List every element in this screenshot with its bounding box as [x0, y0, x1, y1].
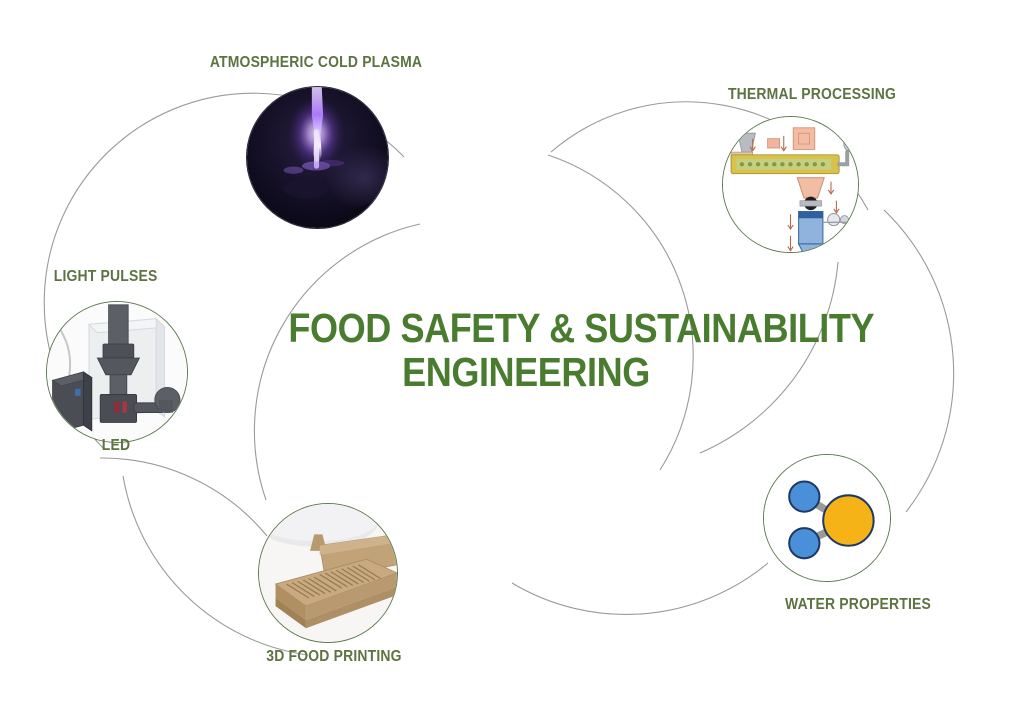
arc-thermal-outer-right	[884, 210, 954, 512]
node-3d-food-printing[interactable]	[258, 503, 398, 643]
node-atmospheric-cold-plasma[interactable]	[246, 86, 389, 229]
arc-water-to-printing	[512, 563, 768, 614]
led-lab-apparatus-icon	[47, 302, 187, 442]
label-led: LED	[102, 437, 130, 455]
printed-food-slab-icon	[259, 504, 397, 642]
label-light-pulses: LIGHT PULSES	[54, 268, 158, 286]
page-title: FOOD SAFETY & SUSTAINABILITY ENGINEERING	[256, 306, 796, 395]
title-line-1: FOOD SAFETY & SUSTAINABILITY	[288, 306, 763, 350]
node-light-pulses[interactable]	[46, 301, 188, 443]
label-thermal-processing: THERMAL PROCESSING	[728, 86, 896, 104]
label-water-properties: WATER PROPERTIES	[785, 596, 931, 614]
title-line-2: ENGINEERING	[288, 350, 763, 394]
label-atmospheric-cold-plasma: ATMOSPHERIC COLD PLASMA	[210, 54, 422, 72]
water-molecule-icon	[764, 455, 890, 581]
process-flow-schematic-icon	[723, 117, 858, 252]
diagram-canvas: ATMOSPHERIC COLD PLASMA	[0, 0, 1027, 720]
plasma-jet-icon	[247, 87, 388, 228]
node-thermal-processing[interactable]	[722, 116, 859, 253]
node-water-properties[interactable]	[763, 454, 891, 582]
label-3d-food-printing: 3D FOOD PRINTING	[266, 648, 401, 666]
arc-printing-to-lightpulses	[100, 458, 267, 536]
